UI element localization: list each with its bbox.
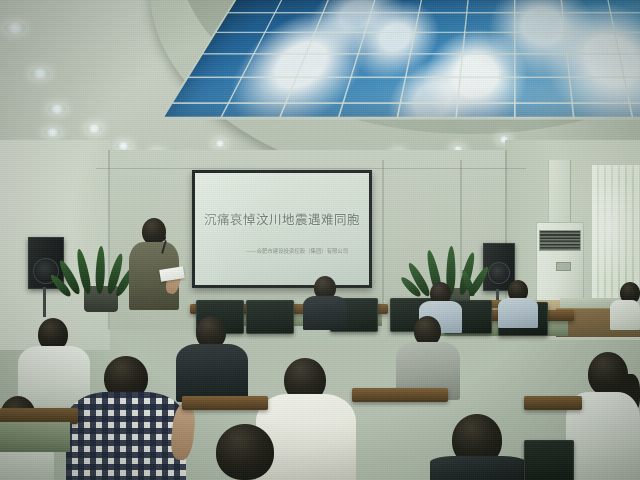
attendee-torso bbox=[256, 394, 356, 480]
attendee-torso bbox=[430, 456, 526, 480]
ceiling-downlight bbox=[44, 128, 61, 137]
ceiling-downlight bbox=[30, 68, 50, 79]
attendee-head bbox=[216, 424, 274, 480]
screen-glare bbox=[195, 173, 311, 285]
projection-screen-surface: 沉痛哀悼汶川地震遇难同胞 ——合肥市建设投资控股（集团）有限公司 bbox=[195, 173, 369, 285]
attendee-torso bbox=[498, 298, 538, 328]
bench-backrest bbox=[182, 396, 268, 410]
ceiling-downlight bbox=[4, 22, 26, 34]
ceiling-downlight bbox=[116, 142, 131, 150]
bench-panel bbox=[0, 422, 70, 452]
attendee-torso bbox=[303, 296, 347, 330]
loudspeaker-right-woofer bbox=[488, 262, 510, 284]
bench-backrest bbox=[352, 388, 448, 402]
vertical-blinds[interactable] bbox=[592, 165, 640, 300]
sky-panel-frame bbox=[160, 0, 640, 119]
wall-seam bbox=[96, 168, 526, 169]
chair-back bbox=[524, 440, 574, 480]
ceiling-downlight bbox=[214, 140, 226, 147]
loudspeaker-left-stand bbox=[43, 287, 46, 317]
wall-seam bbox=[382, 160, 384, 310]
slide-title: 沉痛哀悼汶川地震遇难同胞 bbox=[204, 209, 360, 228]
attendee-torso bbox=[66, 392, 186, 480]
ac-control-panel[interactable] bbox=[556, 262, 571, 271]
projection-screen: 沉痛哀悼汶川地震遇难同胞 ——合肥市建设投资控股（集团）有限公司 bbox=[192, 170, 372, 288]
attendee-torso bbox=[176, 344, 248, 402]
ceiling-downlight bbox=[86, 124, 102, 133]
bench-backrest bbox=[524, 396, 582, 410]
slide-subtitle: ——合肥市建设投资控股（集团）有限公司 bbox=[246, 247, 348, 255]
sky-ceiling-panel bbox=[160, 0, 640, 119]
attendee-torso bbox=[610, 300, 640, 330]
ac-vent-grille bbox=[539, 230, 581, 251]
chair-back bbox=[246, 300, 294, 334]
ceiling-downlight bbox=[48, 104, 66, 114]
conference-hall-photo: 沉痛哀悼汶川地震遇难同胞 ——合肥市建设投资控股（集团）有限公司 bbox=[0, 0, 640, 480]
microphone-icon bbox=[160, 234, 166, 241]
ac-duct bbox=[548, 160, 571, 224]
